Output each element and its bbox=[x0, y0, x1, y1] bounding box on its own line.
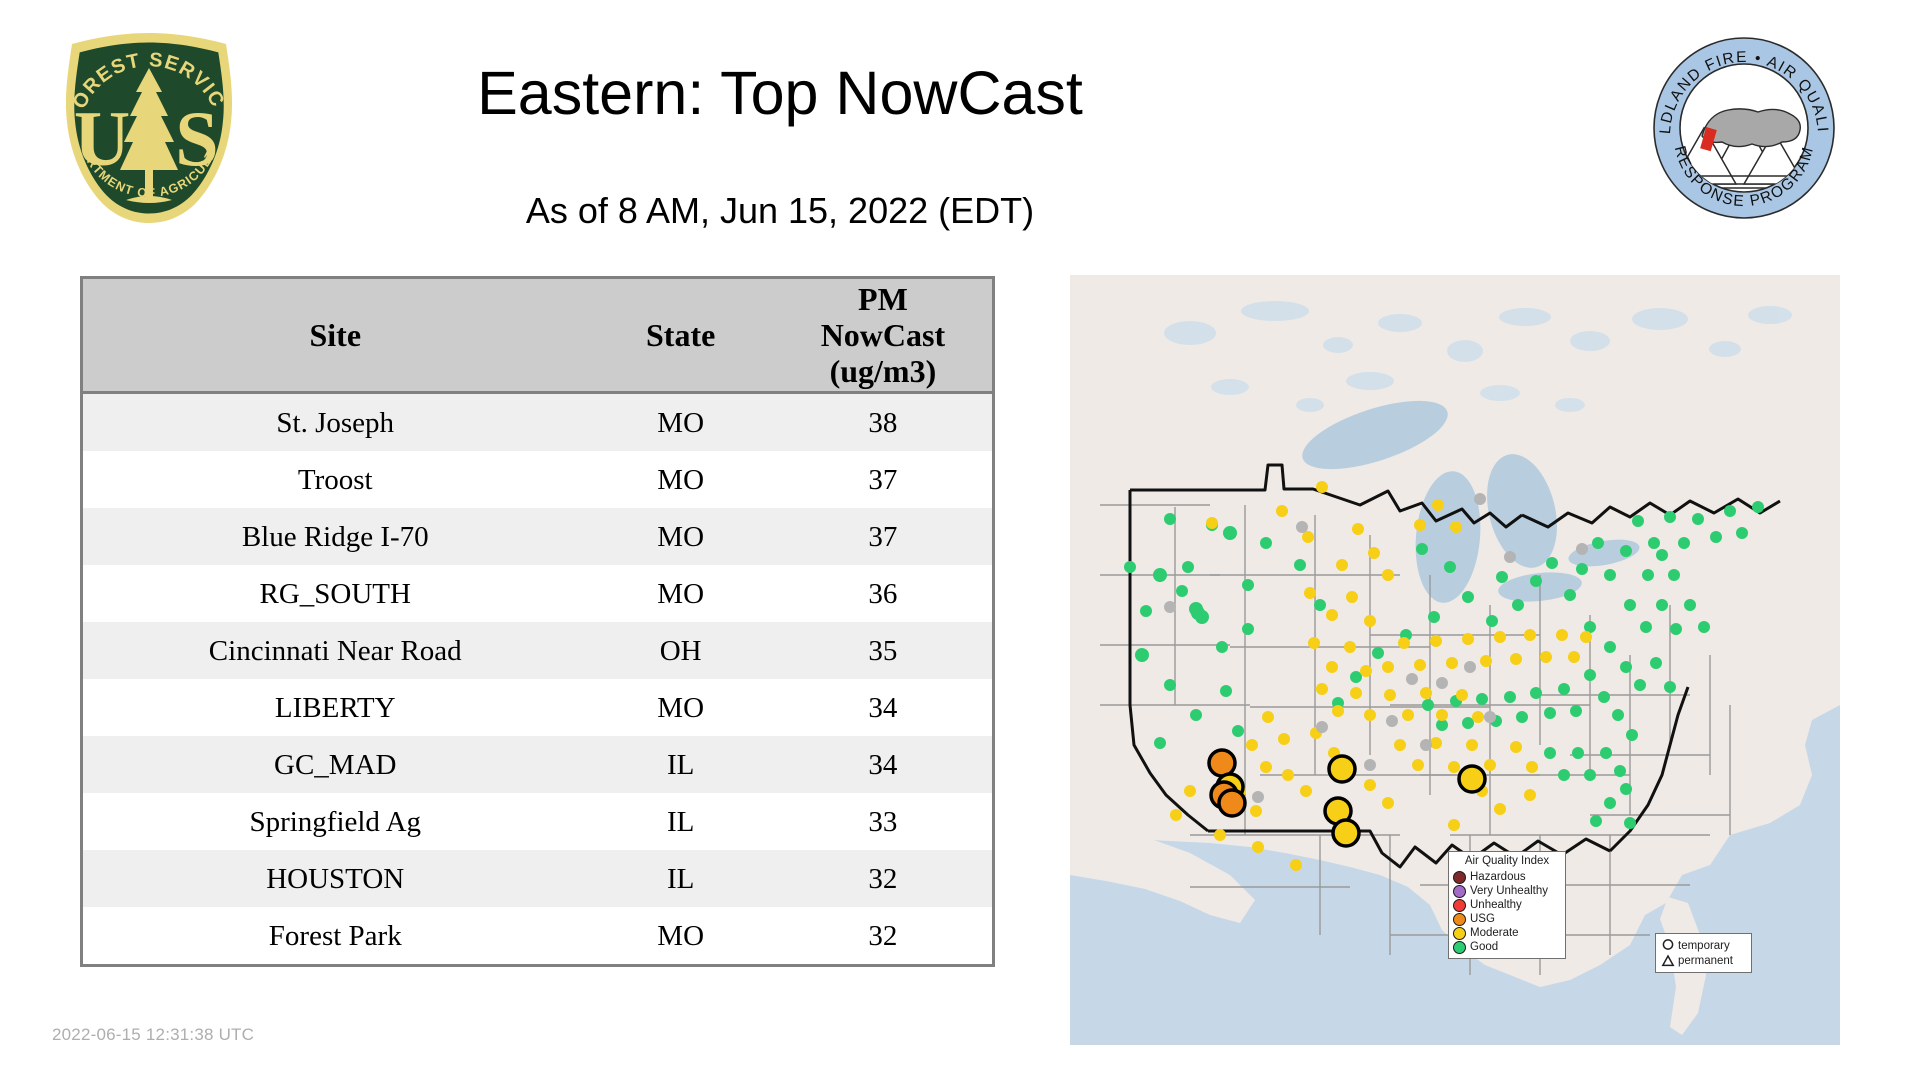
air-quality-index-legend: Air Quality Index Hazardous Very Unhealt… bbox=[1448, 851, 1566, 959]
cell-state: MO bbox=[587, 565, 773, 622]
table-row: LIBERTY MO 34 bbox=[83, 679, 992, 736]
aqi-legend-row-good: Good bbox=[1453, 940, 1561, 954]
cell-site: Blue Ridge I-70 bbox=[83, 508, 587, 565]
aqi-legend-title: Air Quality Index bbox=[1453, 855, 1561, 868]
aqi-label-good: Good bbox=[1470, 941, 1498, 954]
cell-site: GC_MAD bbox=[83, 736, 587, 793]
top-site-marker bbox=[1219, 790, 1245, 816]
aqi-label-hazardous: Hazardous bbox=[1470, 871, 1526, 884]
page-subtitle: As of 8 AM, Jun 15, 2022 (EDT) bbox=[0, 190, 1560, 232]
column-header-pm-line1: PM bbox=[778, 281, 988, 317]
aqi-legend-row-unhealthy: Unhealthy bbox=[1453, 898, 1561, 912]
cell-pm: 34 bbox=[774, 736, 992, 793]
column-header-site-line1: Site bbox=[87, 317, 583, 353]
top-site-marker bbox=[1459, 766, 1485, 792]
table-header-row: Site State PM NowCast (ug/m3) bbox=[83, 279, 992, 393]
table-row: Blue Ridge I-70 MO 37 bbox=[83, 508, 992, 565]
column-header-site: Site bbox=[83, 279, 587, 393]
cell-state: IL bbox=[587, 850, 773, 907]
site-legend-label-permanent: permanent bbox=[1678, 954, 1733, 968]
site-legend-label-temporary: temporary bbox=[1678, 939, 1730, 953]
aqi-label-unhealthy: Unhealthy bbox=[1470, 899, 1522, 912]
cell-site: Springfield Ag bbox=[83, 793, 587, 850]
cell-pm: 37 bbox=[774, 508, 992, 565]
cell-state: IL bbox=[587, 736, 773, 793]
wfaqrp-logo: WILDLAND FIRE • AIR QUALITY RESPONSE PRO… bbox=[1648, 32, 1840, 224]
aqi-legend-row-moderate: Moderate bbox=[1453, 926, 1561, 940]
cell-pm: 34 bbox=[774, 679, 992, 736]
aqi-legend-row-usg: USG bbox=[1453, 912, 1561, 926]
slide-canvas: FOREST SERVICE DEPARTMENT OF AGRICULTURE… bbox=[0, 0, 1920, 1080]
cell-site: Forest Park bbox=[83, 907, 587, 964]
aqi-dot-unhealthy-icon bbox=[1453, 899, 1466, 912]
smoke-plume-icon bbox=[1702, 109, 1800, 147]
cell-site: HOUSTON bbox=[83, 850, 587, 907]
site-type-legend: temporary permanent bbox=[1655, 933, 1752, 973]
column-header-pm-line3: (ug/m3) bbox=[778, 353, 988, 389]
cell-site: Cincinnati Near Road bbox=[83, 622, 587, 679]
cell-pm: 38 bbox=[774, 393, 992, 452]
aqi-legend-row-hazardous: Hazardous bbox=[1453, 870, 1561, 884]
aqi-dot-moderate-icon bbox=[1453, 927, 1466, 940]
cell-pm: 36 bbox=[774, 565, 992, 622]
cell-pm: 37 bbox=[774, 451, 992, 508]
cell-state: OH bbox=[587, 622, 773, 679]
aqi-dot-very-unhealthy-icon bbox=[1453, 885, 1466, 898]
generated-timestamp: 2022-06-15 12:31:38 UTC bbox=[52, 1025, 254, 1045]
cell-site: St. Joseph bbox=[83, 393, 587, 452]
triangle-marker-icon bbox=[1661, 954, 1675, 968]
table-row: RG_SOUTH MO 36 bbox=[83, 565, 992, 622]
site-legend-row-temporary: temporary bbox=[1661, 938, 1747, 953]
table-row: Cincinnati Near Road OH 35 bbox=[83, 622, 992, 679]
cell-state: IL bbox=[587, 793, 773, 850]
table-row: GC_MAD IL 34 bbox=[83, 736, 992, 793]
cell-state: MO bbox=[587, 393, 773, 452]
cell-site: Troost bbox=[83, 451, 587, 508]
table-row: Troost MO 37 bbox=[83, 451, 992, 508]
cell-pm: 35 bbox=[774, 622, 992, 679]
cell-site: LIBERTY bbox=[83, 679, 587, 736]
top-nowcast-table: Site State PM NowCast (ug/m3) St. Joseph… bbox=[80, 276, 995, 967]
aqi-dot-hazardous-icon bbox=[1453, 871, 1466, 884]
aqi-legend-row-very-unhealthy: Very Unhealthy bbox=[1453, 884, 1561, 898]
column-header-pm-nowcast: PM NowCast (ug/m3) bbox=[774, 279, 992, 393]
aqi-dot-good-icon bbox=[1453, 941, 1466, 954]
cell-pm: 33 bbox=[774, 793, 992, 850]
cell-state: MO bbox=[587, 451, 773, 508]
column-header-pm-line2: NowCast bbox=[778, 317, 988, 353]
table-row: St. Joseph MO 38 bbox=[83, 393, 992, 452]
aqi-dot-usg-icon bbox=[1453, 913, 1466, 926]
table-row: Springfield Ag IL 33 bbox=[83, 793, 992, 850]
top-site-marker bbox=[1333, 820, 1359, 846]
page-title: Eastern: Top NowCast bbox=[0, 60, 1560, 126]
air-quality-monitor-map[interactable]: Air Quality Index Hazardous Very Unhealt… bbox=[1070, 275, 1840, 1045]
top-site-marker bbox=[1329, 756, 1355, 782]
table-row: Forest Park MO 32 bbox=[83, 907, 992, 964]
aqi-label-usg: USG bbox=[1470, 913, 1495, 926]
site-legend-row-permanent: permanent bbox=[1661, 953, 1747, 968]
column-header-state: State bbox=[587, 279, 773, 393]
table-row: HOUSTON IL 32 bbox=[83, 850, 992, 907]
cell-state: MO bbox=[587, 907, 773, 964]
aqi-label-very-unhealthy: Very Unhealthy bbox=[1470, 885, 1548, 898]
circle-marker-icon bbox=[1661, 939, 1675, 953]
cell-site: RG_SOUTH bbox=[83, 565, 587, 622]
cell-state: MO bbox=[587, 679, 773, 736]
cell-pm: 32 bbox=[774, 907, 992, 964]
cell-state: MO bbox=[587, 508, 773, 565]
aqi-label-moderate: Moderate bbox=[1470, 927, 1519, 940]
column-header-state-line1: State bbox=[591, 317, 769, 353]
cell-pm: 32 bbox=[774, 850, 992, 907]
top-site-marker bbox=[1209, 750, 1235, 776]
